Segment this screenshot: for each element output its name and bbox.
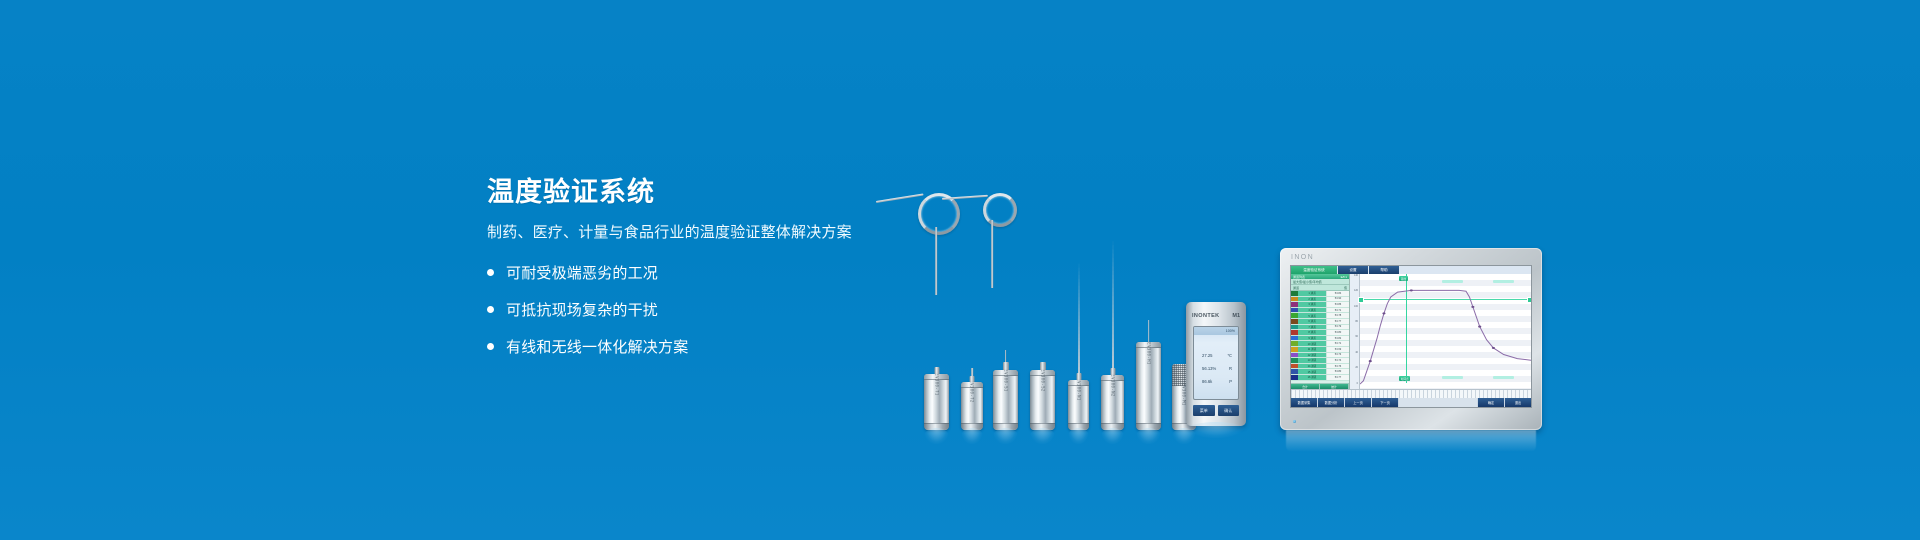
list-item[interactable]: EV300-N1 bbox=[1068, 380, 1089, 430]
reader-keypad[interactable]: 菜单确认 bbox=[1193, 405, 1239, 416]
table-rows[interactable]: 1 通道53.842 通道53.903 通道53.864 通道53.715 通道… bbox=[1291, 291, 1349, 383]
y-axis-tick: 60 bbox=[1355, 336, 1358, 338]
toolbar-gap bbox=[1399, 398, 1477, 407]
topbar-filler bbox=[1400, 266, 1531, 274]
col-header-channel: 通道 bbox=[1293, 286, 1299, 290]
reader-model-label: M1 bbox=[1232, 313, 1240, 319]
reader-readout-row: 56.13%R bbox=[1202, 366, 1232, 371]
curve-markers bbox=[1369, 289, 1495, 362]
channel-color-swatch bbox=[1291, 297, 1298, 302]
software-topbar[interactable]: 温度验证系统设置帮助 bbox=[1291, 266, 1531, 274]
feature-item-1: 可耐受极端恶劣的工况 bbox=[487, 262, 947, 283]
monitor: INON 温度验证系统设置帮助 通道列表 E/F1 最大值/最小值/平均值 bbox=[1280, 248, 1542, 430]
channel-color-swatch bbox=[1291, 325, 1298, 330]
logger-engrave: EV300-T2 bbox=[970, 382, 975, 402]
reader-readout-row: 27.25℃ bbox=[1202, 353, 1232, 358]
channel-value-cell: 53.80 bbox=[1326, 330, 1349, 335]
hero-banner: 温度验证系统 制药、医疗、计量与食品行业的温度验证整体解决方案 可耐受极端恶劣的… bbox=[0, 0, 1920, 540]
channel-value-cell: 53.71 bbox=[1326, 308, 1349, 313]
channel-value-cell: 53.79 bbox=[1326, 325, 1349, 330]
channel-color-swatch bbox=[1291, 358, 1298, 363]
curve-point bbox=[1369, 360, 1372, 362]
channel-name-cell: 5 通道 bbox=[1298, 313, 1326, 318]
reader-screen: 100% 27.25℃56.13%R86.6kP bbox=[1193, 326, 1239, 400]
channel-name-cell: 3 通道 bbox=[1298, 302, 1326, 307]
list-item[interactable]: EV300-S2 bbox=[1030, 370, 1055, 430]
chart-area: 140120100806040200 基线 时间点 bbox=[1350, 274, 1531, 389]
coiled-probe-2-stem bbox=[991, 220, 993, 288]
toolbar-button[interactable]: 上一页 bbox=[1345, 398, 1371, 407]
logger-body: EV300-T2 bbox=[961, 382, 983, 430]
logger-engrave: EV300-S1 bbox=[1003, 370, 1008, 392]
channel-name-cell: 7 通道 bbox=[1298, 325, 1326, 330]
table-header-left: 通道列表 bbox=[1293, 275, 1305, 279]
hero-copy: 温度验证系统 制药、医疗、计量与食品行业的温度验证整体解决方案 可耐受极端恶劣的… bbox=[487, 176, 947, 373]
reader-key[interactable]: 菜单 bbox=[1193, 405, 1215, 416]
logger-body: EV300-S2 bbox=[1030, 370, 1055, 430]
channel-name-cell: 8 通道 bbox=[1298, 330, 1326, 335]
feature-list: 可耐受极端恶劣的工况可抵抗现场复杂的干扰有线和无线一体化解决方案 bbox=[487, 262, 947, 357]
reader-readout-unit: P bbox=[1229, 379, 1232, 384]
y-axis-tick: 0 bbox=[1357, 383, 1358, 385]
chart-y-axis: 140120100806040200 bbox=[1350, 274, 1359, 389]
channel-name-cell: 9 通道 bbox=[1298, 336, 1326, 341]
bullet-dot-icon bbox=[487, 306, 494, 313]
channel-value-cell: 53.86 bbox=[1326, 302, 1349, 307]
reflection bbox=[1101, 428, 1124, 444]
power-led-icon bbox=[1293, 420, 1296, 423]
channel-color-swatch bbox=[1291, 302, 1298, 307]
logger-engrave: EV300-T1 bbox=[934, 374, 939, 396]
coiled-probe-1-lead bbox=[876, 194, 924, 203]
y-axis-tick: 120 bbox=[1354, 290, 1358, 292]
reader-battery-label: 100% bbox=[1226, 329, 1235, 333]
channel-value-cell: 53.73 bbox=[1326, 353, 1349, 358]
y-axis-tick: 40 bbox=[1355, 352, 1358, 354]
reflection bbox=[993, 428, 1018, 444]
curve-point bbox=[1382, 312, 1385, 314]
toolbar-button[interactable]: 退出 bbox=[1505, 398, 1531, 407]
channel-color-swatch bbox=[1291, 364, 1298, 369]
bullet-dot-icon bbox=[487, 343, 494, 350]
channel-name-cell: 12 通道 bbox=[1298, 353, 1326, 358]
feature-label: 可耐受极端恶劣的工况 bbox=[506, 262, 658, 283]
feature-label: 可抵抗现场复杂的干扰 bbox=[506, 299, 658, 320]
reader-brand-label: INONTEK bbox=[1192, 313, 1220, 319]
needle-probe-icon bbox=[1078, 262, 1080, 380]
channel-value-cell: 53.90 bbox=[1326, 297, 1349, 302]
channel-name-cell: 13 通道 bbox=[1298, 358, 1326, 363]
reflection bbox=[961, 428, 983, 444]
reader-brand-row: INONTEK M1 bbox=[1192, 313, 1240, 319]
software-tab[interactable]: 帮助 bbox=[1369, 266, 1399, 274]
reader-readout-value: 27.25 bbox=[1202, 353, 1212, 358]
reflection bbox=[1030, 428, 1055, 444]
reader-readout-value: 86.6k bbox=[1202, 379, 1212, 384]
curve-point bbox=[1410, 289, 1413, 291]
table-row[interactable]: 16 通道53.77 bbox=[1291, 375, 1349, 381]
channel-name-cell: 2 通道 bbox=[1298, 297, 1326, 302]
channel-color-swatch bbox=[1291, 308, 1298, 313]
y-axis-tick: 80 bbox=[1355, 321, 1358, 323]
channel-value-cell: 53.80 bbox=[1326, 369, 1349, 374]
channel-name-cell: 6 通道 bbox=[1298, 319, 1326, 324]
col-header-value: 值 bbox=[1344, 286, 1347, 290]
reflection bbox=[1286, 430, 1536, 452]
logger-engrave: EV300-H1 bbox=[1146, 342, 1151, 364]
software-body: 通道列表 E/F1 最大值/最小值/平均值 通道 值 1 通道53.842 通道… bbox=[1291, 274, 1531, 389]
reader-statusbar: 100% bbox=[1194, 327, 1238, 335]
channel-value-cell: 53.76 bbox=[1326, 364, 1349, 369]
logger-engrave: EV300-S2 bbox=[1040, 370, 1045, 392]
logger-engrave: EV300-N2 bbox=[1110, 375, 1115, 396]
list-item[interactable]: EV300-S1 bbox=[993, 370, 1018, 430]
list-item[interactable]: EV300-H1 bbox=[1136, 342, 1161, 430]
reader-readout-unit: R bbox=[1229, 366, 1232, 371]
curve-point bbox=[1478, 326, 1481, 328]
channel-name-cell: 4 通道 bbox=[1298, 308, 1326, 313]
channel-color-swatch bbox=[1291, 353, 1298, 358]
reader-key[interactable]: 确认 bbox=[1218, 405, 1240, 416]
y-axis-tick: 140 bbox=[1354, 275, 1358, 277]
channel-value-cell: 53.78 bbox=[1326, 313, 1349, 318]
logger-body: EV300-N1 bbox=[1068, 380, 1089, 430]
coiled-probe-1-icon bbox=[918, 193, 960, 235]
monitor-brand-label: INON bbox=[1291, 254, 1314, 261]
temperature-curve bbox=[1360, 290, 1531, 384]
toolbar-button[interactable]: 数据分析 bbox=[1318, 398, 1344, 407]
software-bottom-toolbar[interactable]: 数据采集数据分析上一页下一页确定退出 bbox=[1291, 398, 1531, 407]
software-tab[interactable]: 温度验证系统 bbox=[1291, 266, 1337, 274]
chart-plot[interactable]: 基线 时间点 bbox=[1359, 274, 1531, 389]
logger-body: EV300-S1 bbox=[993, 370, 1018, 430]
channel-color-swatch bbox=[1291, 375, 1298, 380]
channel-color-swatch bbox=[1291, 347, 1298, 352]
channel-value-cell: 53.74 bbox=[1326, 358, 1349, 363]
channel-color-swatch bbox=[1291, 341, 1298, 346]
y-axis-tick: 20 bbox=[1355, 367, 1358, 369]
needle-probe-icon bbox=[1112, 239, 1114, 375]
software-tabs[interactable]: 温度验证系统设置帮助 bbox=[1291, 266, 1400, 274]
channel-value-cell: 53.77 bbox=[1326, 319, 1349, 324]
channel-color-swatch bbox=[1291, 313, 1298, 318]
channel-value-cell: 53.82 bbox=[1326, 336, 1349, 341]
channel-value-cell: 53.77 bbox=[1326, 375, 1349, 380]
reflection bbox=[924, 428, 949, 444]
toolbar-button[interactable]: 下一页 bbox=[1372, 398, 1398, 407]
logger-body: EV300-T1 bbox=[924, 374, 949, 430]
curve-point bbox=[1492, 347, 1495, 349]
feature-item-3: 有线和无线一体化解决方案 bbox=[487, 336, 947, 357]
reflection bbox=[1136, 428, 1161, 444]
channel-color-swatch bbox=[1291, 369, 1298, 374]
channel-value-cell: 53.71 bbox=[1326, 341, 1349, 346]
list-item[interactable]: EV300-N2 bbox=[1101, 375, 1124, 430]
reflection bbox=[1068, 428, 1089, 444]
bullet-dot-icon bbox=[487, 269, 494, 276]
probe-stem bbox=[1148, 320, 1150, 343]
channel-name-cell: 10 通道 bbox=[1298, 341, 1326, 346]
curve-point bbox=[1471, 306, 1474, 308]
list-item[interactable]: EV300-T2 bbox=[961, 382, 983, 430]
channel-value-cell: 53.84 bbox=[1326, 291, 1349, 296]
handheld-reader[interactable]: INONTEK M1 100% 27.25℃56.13%R86.6kP 菜单确认 bbox=[1186, 302, 1246, 426]
product-stage: EV300-T1 EV300-T2 EV300-S1 EV3 bbox=[880, 130, 1890, 430]
logger-engrave: EV300-N1 bbox=[1076, 380, 1081, 401]
logger-body: EV300-H1 bbox=[1136, 342, 1161, 430]
channel-name-cell: 14 通道 bbox=[1298, 364, 1326, 369]
channel-name-cell: 1 通道 bbox=[1298, 291, 1326, 296]
table-subheader-left: 最大值/最小值/平均值 bbox=[1293, 280, 1322, 284]
channel-name-cell: 15 通道 bbox=[1298, 369, 1326, 374]
logger-body: EV300-N2 bbox=[1101, 375, 1124, 430]
toolbar-button[interactable]: 数据采集 bbox=[1291, 398, 1317, 407]
channel-color-swatch bbox=[1291, 319, 1298, 324]
table-header-right: E/F1 bbox=[1341, 275, 1347, 279]
horizontal-scrollbar[interactable] bbox=[1291, 389, 1531, 398]
coiled-probe-2-icon bbox=[983, 193, 1017, 227]
channel-name-cell: 11 通道 bbox=[1298, 347, 1326, 352]
list-item[interactable]: EV300-T1 bbox=[924, 374, 949, 430]
coiled-probe-1-stem bbox=[935, 227, 937, 295]
reader-readout-value: 56.13% bbox=[1202, 366, 1216, 371]
software-screen[interactable]: 温度验证系统设置帮助 通道列表 E/F1 最大值/最小值/平均值 通道 bbox=[1290, 265, 1532, 408]
channel-name-cell: 16 通道 bbox=[1298, 375, 1326, 380]
reader-readout-unit: ℃ bbox=[1227, 353, 1232, 358]
chart-svg bbox=[1360, 274, 1531, 389]
feature-label: 有线和无线一体化解决方案 bbox=[506, 336, 688, 357]
reader-readout-row: 86.6kP bbox=[1202, 379, 1232, 384]
page-subtitle: 制药、医疗、计量与食品行业的温度验证整体解决方案 bbox=[487, 223, 947, 243]
channel-table[interactable]: 通道列表 E/F1 最大值/最小值/平均值 通道 值 1 通道53.842 通道… bbox=[1291, 274, 1350, 389]
channel-color-swatch bbox=[1291, 336, 1298, 341]
page-title: 温度验证系统 bbox=[487, 176, 947, 208]
reflection bbox=[1186, 422, 1246, 438]
toolbar-button[interactable]: 确定 bbox=[1478, 398, 1504, 407]
y-axis-tick: 100 bbox=[1354, 306, 1358, 308]
feature-item-2: 可抵抗现场复杂的干扰 bbox=[487, 299, 947, 320]
software-tab[interactable]: 设置 bbox=[1338, 266, 1368, 274]
channel-color-swatch bbox=[1291, 330, 1298, 335]
channel-value-cell: 53.69 bbox=[1326, 347, 1349, 352]
channel-color-swatch bbox=[1291, 291, 1298, 296]
